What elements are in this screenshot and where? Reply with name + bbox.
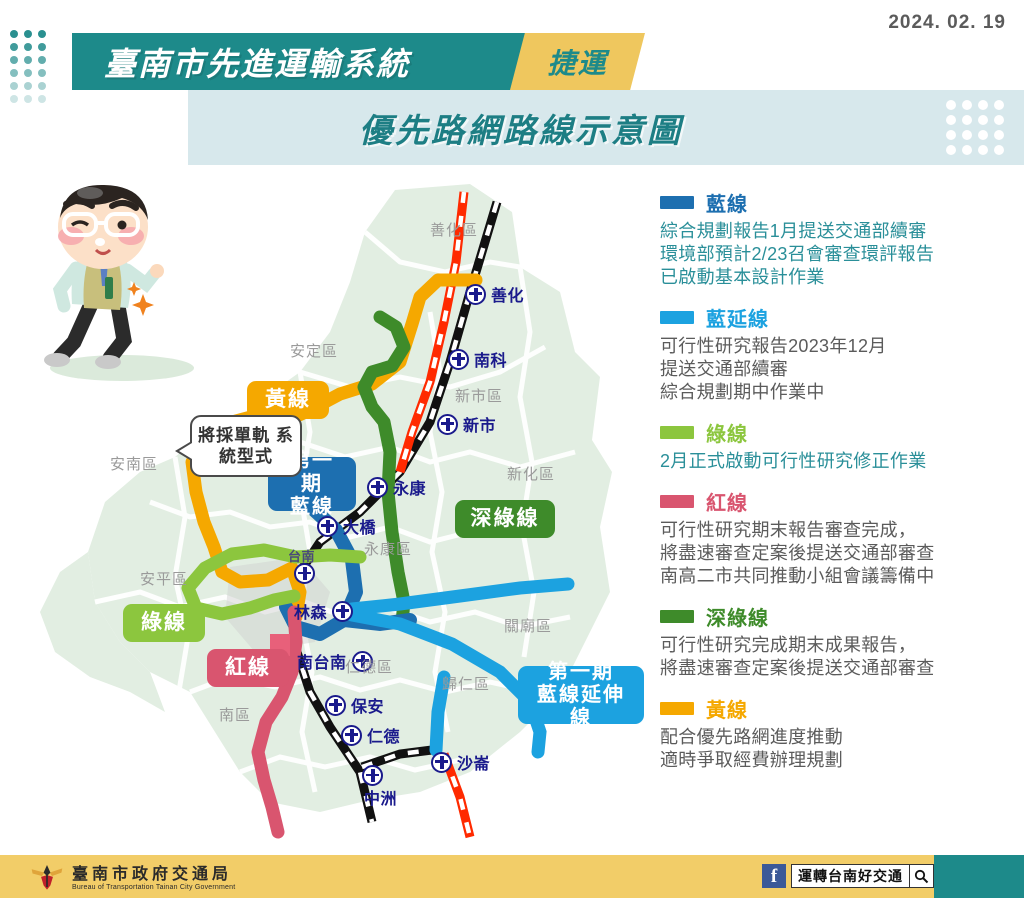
district-label: 歸仁區 [442, 673, 490, 694]
header-subtitle: 優先路網路線示意圖 [359, 104, 683, 152]
legend-color-swatch [660, 610, 694, 623]
facebook-icon[interactable]: f [762, 864, 786, 888]
station-icon [465, 284, 486, 305]
legend-status-text: 可行性研究報告2023年12月 提送交通部續審 綜合規劃期中作業中 [660, 335, 1016, 404]
station-name: 沙崙 [457, 750, 490, 774]
header-title-banner: 臺南市先進運輸系統 [72, 33, 548, 90]
header-subtitle-banner: 優先路網路線示意圖 [188, 90, 1024, 165]
legend-color-swatch [660, 196, 694, 209]
station-marker[interactable]: 台南 [294, 563, 315, 584]
legend-line-name: 黃線 [706, 694, 748, 723]
station-icon [448, 349, 469, 370]
legend-item-header: 深綠線 [660, 602, 1016, 631]
legend-line-name: 深綠線 [706, 602, 769, 631]
station-icon [341, 725, 362, 746]
legend-item-header: 綠線 [660, 418, 1016, 447]
legend-line-name: 紅線 [706, 487, 748, 516]
map-line-callout[interactable]: 綠線 [123, 604, 205, 642]
route-map[interactable]: 善化南科新市永康大橋台南林森南台南保安仁德沙崙中洲 善化區安定區新市區安南區新化… [0, 172, 650, 848]
station-marker[interactable]: 永康 [367, 475, 426, 499]
station-icon [294, 563, 315, 584]
station-icon [362, 765, 383, 786]
map-line-callout[interactable]: 黃線 [247, 381, 329, 419]
legend-item[interactable]: 黃線配合優先路網進度推動 適時爭取經費辦理規劃 [660, 694, 1016, 772]
legend-item-header: 藍線 [660, 188, 1016, 217]
mascot-illustration [30, 182, 205, 382]
header-tag-banner: 捷運 [510, 33, 645, 90]
legend-item[interactable]: 深綠線可行性研究完成期末成果報告， 將盡速審查定案後提送交通部審查 [660, 602, 1016, 680]
map-line-callout[interactable]: 第一期 藍線延伸線 [518, 666, 644, 724]
station-icon [431, 752, 452, 773]
legend-panel: 藍線綜合規劃報告1月提送交通部續審 環境部預計2/23召會審查環評報告 已啟動基… [660, 188, 1016, 786]
legend-item[interactable]: 紅線可行性研究期末報告審查完成， 將盡速審查定案後提送交通部審查 南高二市共同推… [660, 487, 1016, 588]
station-name: 仁德 [367, 723, 400, 747]
district-label: 安平區 [140, 568, 188, 589]
map-line-callout[interactable]: 深綠線 [455, 500, 555, 538]
station-marker[interactable]: 林森 [294, 599, 353, 623]
legend-line-name: 藍線 [706, 188, 748, 217]
legend-status-text: 2月正式啟動可行性研究修正作業 [660, 450, 1016, 473]
district-label: 新市區 [455, 385, 503, 406]
station-marker[interactable]: 善化 [465, 282, 524, 306]
social-badge[interactable]: f 運轉台南好交通 [762, 864, 934, 888]
legend-item-header: 藍延線 [660, 303, 1016, 332]
legend-status-text: 綜合規劃報告1月提送交通部續審 環境部預計2/23召會審查環評報告 已啟動基本設… [660, 220, 1016, 289]
legend-color-swatch [660, 311, 694, 324]
legend-status-text: 配合優先路網進度推動 適時爭取經費辦理規劃 [660, 726, 1016, 772]
station-marker[interactable]: 保安 [325, 693, 384, 717]
station-name: 大橋 [343, 514, 376, 538]
station-icon [325, 695, 346, 716]
legend-status-text: 可行性研究完成期末成果報告， 將盡速審查定案後提送交通部審查 [660, 634, 1016, 680]
station-name: 台南 [288, 546, 315, 565]
station-marker[interactable]: 沙崙 [431, 750, 490, 774]
station-marker[interactable]: 南科 [448, 347, 507, 371]
legend-color-swatch [660, 495, 694, 508]
legend-item[interactable]: 綠線2月正式啟動可行性研究修正作業 [660, 418, 1016, 473]
station-icon [332, 601, 353, 622]
station-marker[interactable]: 仁德 [341, 723, 400, 747]
org-logo: 臺南市政府交通局 Bureau of Transportation Tainan… [30, 860, 235, 891]
station-name: 新市 [463, 412, 496, 436]
station-name: 南科 [474, 347, 507, 371]
station-name: 林森 [294, 599, 327, 623]
legend-line-name: 綠線 [706, 418, 748, 447]
org-name-en: Bureau of Transportation Tainan City Gov… [72, 884, 235, 891]
station-marker[interactable]: 新市 [437, 412, 496, 436]
legend-item[interactable]: 藍線綜合規劃報告1月提送交通部續審 環境部預計2/23召會審查環評報告 已啟動基… [660, 188, 1016, 289]
legend-color-swatch [660, 702, 694, 715]
legend-color-swatch [660, 426, 694, 439]
district-label: 關廟區 [504, 615, 552, 636]
district-label: 安南區 [110, 453, 158, 474]
map-line-callout[interactable]: 紅線 [207, 649, 289, 687]
station-name: 南台南 [297, 649, 347, 673]
footer-teal-right [934, 855, 1024, 898]
legend-item-header: 紅線 [660, 487, 1016, 516]
infographic-root: 2024. 02. 19 臺南市先進運輸系統 捷運 優先路網路線示意圖 [0, 0, 1024, 898]
speech-bubble: 將採單軌 系統型式 [190, 415, 302, 477]
legend-item[interactable]: 藍延線可行性研究報告2023年12月 提送交通部續審 綜合規劃期中作業中 [660, 303, 1016, 404]
station-name: 善化 [491, 282, 524, 306]
station-name: 永康 [393, 475, 426, 499]
footer-bar: 臺南市政府交通局 Bureau of Transportation Tainan… [0, 855, 1024, 898]
publication-date: 2024. 02. 19 [888, 12, 1006, 34]
facebook-page-name[interactable]: 運轉台南好交通 [791, 864, 910, 888]
station-name: 保安 [351, 693, 384, 717]
legend-status-text: 可行性研究期末報告審查完成， 將盡速審查定案後提送交通部審查 南高二市共同推動小… [660, 519, 1016, 588]
station-icon [317, 516, 338, 537]
legend-item-header: 黃線 [660, 694, 1016, 723]
district-label: 善化區 [430, 219, 478, 240]
station-icon [367, 477, 388, 498]
header-title: 臺南市先進運輸系統 [104, 39, 410, 85]
org-name-zh: 臺南市政府交通局 [72, 860, 235, 884]
district-label: 新化區 [507, 463, 555, 484]
decorative-dot-grid-left [10, 30, 46, 108]
header-tag: 捷運 [547, 42, 607, 82]
station-name: 中洲 [364, 785, 397, 809]
phoenix-icon [30, 861, 64, 891]
district-label: 永康區 [364, 538, 412, 559]
station-icon [437, 414, 458, 435]
legend-line-name: 藍延線 [706, 303, 769, 332]
district-label: 南區 [219, 704, 251, 725]
district-label: 仁德區 [345, 656, 393, 677]
district-label: 安定區 [290, 340, 338, 361]
decorative-dot-grid-right [946, 100, 1004, 160]
station-marker[interactable]: 中洲 [362, 765, 383, 786]
search-icon[interactable] [910, 864, 934, 888]
